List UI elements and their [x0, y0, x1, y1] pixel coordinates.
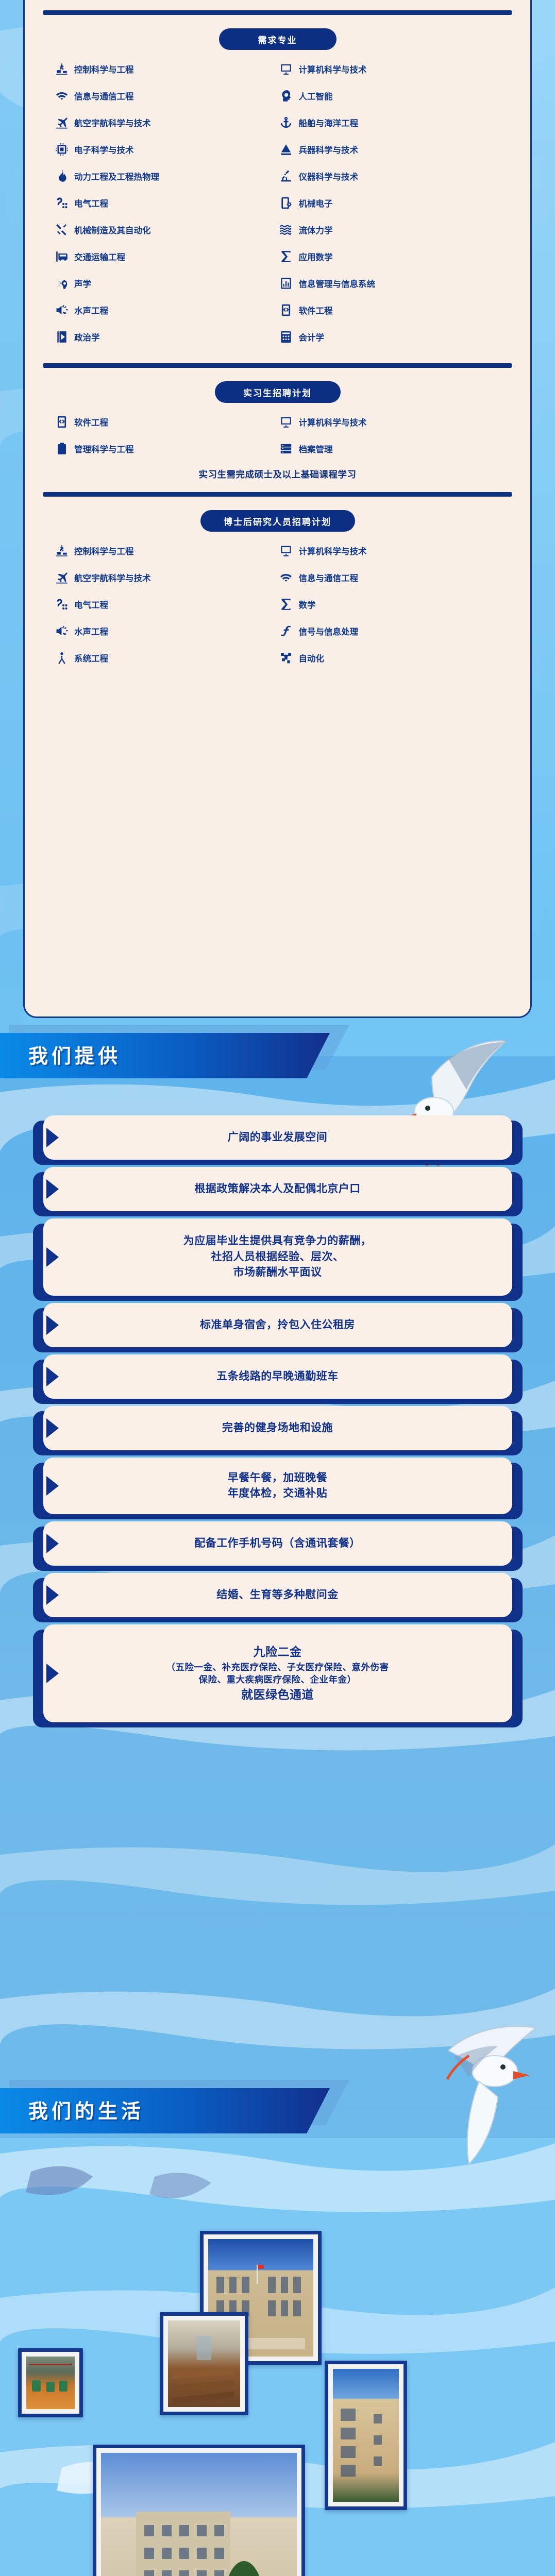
major-label: 流体力学 — [299, 224, 333, 236]
office-building-photo[interactable] — [93, 2445, 305, 2576]
postdoc-item[interactable]: 电气工程 — [55, 592, 279, 616]
chip-icon — [55, 143, 69, 157]
sigma-icon — [279, 598, 293, 612]
major-item[interactable]: 信息管理与信息系统 — [279, 272, 504, 295]
internship-label: 计算机科学与技术 — [299, 416, 367, 428]
photo-image — [333, 2369, 399, 2502]
photo-collage — [0, 2231, 555, 2576]
benefit-item[interactable]: 早餐午餐，加班晚餐 年度体检，交通补贴 — [24, 1458, 532, 1514]
chevron-right-icon — [46, 1418, 59, 1438]
postdoc-item[interactable]: 自动化 — [279, 646, 504, 670]
canteen-photo[interactable] — [160, 2312, 248, 2415]
postdoc-item[interactable]: 航空宇航科学与技术 — [55, 566, 279, 589]
control-system-icon — [55, 62, 69, 76]
major-item[interactable]: 交通运输工程 — [55, 245, 279, 268]
benefit-panel: 九险二金 （五险一金、补充医疗保险、子女医疗保险、意外伤害 保险、重大疾病医疗保… — [43, 1624, 512, 1722]
sigma-icon — [279, 250, 293, 264]
we-offer-banner: 我们提供 — [0, 1033, 555, 1078]
benefit-item[interactable]: 完善的健身场地和设施 — [24, 1406, 532, 1450]
benefit-title: 九险二金 — [254, 1643, 302, 1660]
major-item[interactable]: 软件工程 — [279, 298, 504, 322]
internship-item[interactable]: 软件工程 — [55, 410, 279, 434]
benefit-item[interactable]: 配备工作手机号码（含通讯套餐） — [24, 1521, 532, 1566]
major-label: 电子科学与技术 — [74, 143, 134, 156]
major-item[interactable]: 动力工程及工程热物理 — [55, 164, 279, 188]
cafe-lounge-photo[interactable] — [18, 2348, 83, 2417]
majors-title-pill: 需求专业 — [219, 28, 337, 50]
major-item[interactable]: 信息与通信工程 — [55, 84, 279, 108]
benefit-label: 早餐午餐，加班晚餐 年度体检，交通补贴 — [228, 1470, 328, 1502]
major-label: 仪器科学与技术 — [299, 170, 359, 182]
internship-label: 档案管理 — [299, 443, 333, 455]
majors-grid: 控制科学与工程 计算机科学与技术 信息与通信工程 人工智能 — [25, 50, 530, 349]
recruitment-card: 需求专业 控制科学与工程 计算机科学与技术 信息与通信工程 — [23, 0, 532, 1018]
postdoc-label: 自动化 — [299, 652, 325, 664]
internship-note: 实习生需完成硕士及以上基础课程学习 — [25, 461, 530, 481]
major-label: 动力工程及工程热物理 — [74, 170, 159, 182]
major-item[interactable]: 机械制造及其自动化 — [55, 218, 279, 242]
postdoc-label: 信息与通信工程 — [299, 571, 359, 584]
benefit-label: 完善的健身场地和设施 — [222, 1420, 333, 1436]
benefit-label: 标准单身宿舍，拎包入住公租房 — [200, 1317, 355, 1333]
postdoc-label: 数学 — [299, 598, 316, 611]
postdoc-grid: 控制科学与工程 计算机科学与技术 航空宇航科学与技术 信息与通信工程 电气工程 — [25, 532, 530, 670]
chevron-right-icon — [46, 1664, 59, 1683]
calculator-icon — [279, 330, 293, 344]
major-label: 会计学 — [299, 331, 325, 343]
benefit-item[interactable]: 五条线路的早晚通勤班车 — [24, 1354, 532, 1399]
postdoc-item[interactable]: 系统工程 — [55, 646, 279, 670]
photo-mat — [96, 2448, 301, 2576]
internship-item[interactable]: 档案管理 — [279, 437, 504, 461]
speaker-icon — [55, 303, 69, 317]
chevron-right-icon — [46, 1367, 59, 1386]
major-item[interactable]: 政治学 — [55, 325, 279, 349]
ai-brain-icon — [279, 89, 293, 103]
benefit-label: 结婚、生育等多种慰问金 — [216, 1587, 339, 1603]
airplane-icon — [55, 571, 69, 585]
postdoc-item[interactable]: 数学 — [279, 592, 504, 616]
missile-icon — [279, 143, 293, 157]
chevron-right-icon — [46, 1315, 59, 1335]
benefit-detail: （五险一金、补充医疗保险、子女医疗保险、意外伤害 保险、重大疾病医疗保险、企业年… — [166, 1661, 389, 1686]
monitor-icon — [279, 62, 293, 76]
benefit-label: 广阔的事业发展空间 — [228, 1130, 328, 1145]
chevron-right-icon — [46, 1179, 59, 1199]
benefit-label: 配备工作手机号码（含通讯套餐） — [194, 1536, 361, 1551]
tools-icon — [55, 223, 69, 237]
major-label: 信息管理与信息系统 — [299, 277, 376, 290]
major-label: 机械电子 — [299, 197, 333, 209]
code-icon — [55, 415, 69, 429]
postdoc-label: 航空宇航科学与技术 — [74, 571, 151, 584]
benefit-panel: 结婚、生育等多种慰问金 — [43, 1573, 512, 1617]
benefit-item[interactable]: 根据政策解决本人及配偶北京户口 — [24, 1167, 532, 1211]
postdoc-label: 信号与信息处理 — [299, 625, 359, 637]
major-item[interactable]: 电气工程 — [55, 191, 279, 215]
chevron-right-icon — [46, 1247, 59, 1267]
major-item[interactable]: 会计学 — [279, 325, 504, 349]
benefit-panel: 五条线路的早晚通勤班车 — [43, 1354, 512, 1399]
benefit-panel: 根据政策解决本人及配偶北京户口 — [43, 1167, 512, 1211]
benefit-footer: 就医绿色通道 — [241, 1686, 314, 1703]
major-label: 信息与通信工程 — [74, 90, 134, 102]
photo-mat — [163, 2316, 245, 2412]
divider-internship — [43, 363, 512, 368]
internship-title-pill: 实习生招聘计划 — [215, 381, 341, 403]
bus-icon — [55, 250, 69, 264]
code-icon — [279, 303, 293, 317]
speaker-icon — [55, 624, 69, 638]
benefit-item[interactable]: 为应届毕业生提供具有竞争力的薪酬， 社招人员根据经验、层次、 市场薪酬水平面议 — [24, 1218, 532, 1296]
internship-grid: 软件工程 计算机科学与技术 管理科学与工程 档案管理 — [25, 403, 530, 461]
monitor-icon — [279, 544, 293, 558]
benefit-panel: 早餐午餐，加班晚餐 年度体检，交通补贴 — [43, 1458, 512, 1514]
benefit-item[interactable]: 九险二金 （五险一金、补充医疗保险、子女医疗保险、意外伤害 保险、重大疾病医疗保… — [24, 1624, 532, 1722]
benefit-item[interactable]: 结婚、生育等多种慰问金 — [24, 1573, 532, 1617]
major-label: 软件工程 — [299, 304, 333, 316]
major-label: 船舶与海洋工程 — [299, 116, 359, 129]
postdoc-label: 控制科学与工程 — [74, 545, 134, 557]
major-item[interactable]: 应用数学 — [279, 245, 504, 268]
control-system-icon — [55, 544, 69, 558]
major-label: 电气工程 — [74, 197, 108, 209]
major-item[interactable]: 仪器科学与技术 — [279, 164, 504, 188]
major-item[interactable]: 机械电子 — [279, 191, 504, 215]
major-label: 兵器科学与技术 — [299, 143, 359, 156]
server-icon — [279, 442, 293, 456]
major-item[interactable]: 流体力学 — [279, 218, 504, 242]
our-life-banner-title: 我们的生活 — [28, 2095, 144, 2124]
chevron-right-icon — [46, 1585, 59, 1605]
major-item[interactable]: 航空宇航科学与技术 — [55, 111, 279, 134]
benefit-label: 五条线路的早晚通勤班车 — [216, 1369, 339, 1384]
postdoc-label: 系统工程 — [74, 652, 108, 664]
wifi-icon — [55, 89, 69, 103]
flame-icon — [55, 170, 69, 183]
anchor-icon — [279, 116, 293, 130]
signal-f-icon — [279, 624, 293, 638]
plug-icon — [55, 196, 69, 210]
waves-icon — [279, 223, 293, 237]
benefit-item[interactable]: 标准单身宿舍，拎包入住公租房 — [24, 1303, 532, 1347]
benefit-item[interactable]: 广阔的事业发展空间 — [24, 1115, 532, 1160]
major-item[interactable]: 控制科学与工程 — [55, 57, 279, 81]
photo-image — [26, 2357, 75, 2409]
major-label: 应用数学 — [299, 250, 333, 263]
major-item[interactable]: 声学 — [55, 272, 279, 295]
photo-image — [101, 2453, 297, 2576]
internship-item[interactable]: 管理科学与工程 — [55, 437, 279, 461]
we-offer-banner-title: 我们提供 — [28, 1040, 121, 1069]
photo-image — [168, 2320, 240, 2407]
photo-mat — [328, 2364, 403, 2506]
major-label: 人工智能 — [299, 90, 333, 102]
airplane-icon — [55, 116, 69, 130]
chevron-right-icon — [46, 1128, 59, 1147]
postdoc-item[interactable]: 水声工程 — [55, 619, 279, 643]
major-label: 交通运输工程 — [74, 250, 125, 263]
postdoc-label: 水声工程 — [74, 625, 108, 637]
benefits-list: 广阔的事业发展空间 根据政策解决本人及配偶北京户口 为应届毕业生提供具有竞争力的… — [0, 1115, 555, 1730]
postdoc-label: 电气工程 — [74, 598, 108, 611]
postdoc-item[interactable]: 信息与通信工程 — [279, 566, 504, 589]
dormitory-photo[interactable] — [325, 2361, 407, 2510]
photo-mat — [22, 2352, 79, 2414]
plug-icon — [55, 598, 69, 612]
microscope-icon — [279, 170, 293, 183]
benefit-panel: 为应届毕业生提供具有竞争力的薪酬， 社招人员根据经验、层次、 市场薪酬水平面议 — [43, 1218, 512, 1296]
postdoc-item[interactable]: 计算机科学与技术 — [279, 539, 504, 563]
internship-label: 管理科学与工程 — [74, 443, 134, 455]
major-label: 控制科学与工程 — [74, 63, 134, 75]
postdoc-item[interactable]: 控制科学与工程 — [55, 539, 279, 563]
benefit-panel: 广阔的事业发展空间 — [43, 1115, 512, 1160]
clipboard-icon — [55, 442, 69, 456]
major-label: 航空宇航科学与技术 — [74, 116, 151, 129]
benefit-label: 为应届毕业生提供具有竞争力的薪酬， 社招人员根据经验、层次、 市场薪酬水平面议 — [183, 1233, 372, 1280]
our-life-banner: 我们的生活 — [0, 2088, 555, 2133]
benefit-panel: 标准单身宿舍，拎包入住公租房 — [43, 1303, 512, 1347]
major-item[interactable]: 船舶与海洋工程 — [279, 111, 504, 134]
divider-top — [43, 10, 512, 15]
wifi-icon — [279, 571, 293, 585]
major-item[interactable]: 人工智能 — [279, 84, 504, 108]
postdoc-title-pill: 博士后研究人员招聘计划 — [200, 510, 355, 532]
person-system-icon — [55, 651, 69, 665]
ear-icon — [55, 277, 69, 291]
chevron-right-icon — [46, 1476, 59, 1496]
major-label: 声学 — [74, 277, 91, 290]
benefit-panel: 配备工作手机号码（含通讯套餐） — [43, 1521, 512, 1566]
postdoc-label: 计算机科学与技术 — [299, 545, 367, 557]
device-gear-icon — [279, 196, 293, 210]
major-item[interactable]: 电子科学与技术 — [55, 138, 279, 161]
major-label: 机械制造及其自动化 — [74, 224, 151, 236]
major-label: 计算机科学与技术 — [299, 63, 367, 75]
internship-item[interactable]: 计算机科学与技术 — [279, 410, 504, 434]
benefit-label: 根据政策解决本人及配偶北京户口 — [194, 1181, 361, 1197]
major-label: 水声工程 — [74, 304, 108, 316]
automation-icon — [279, 651, 293, 665]
major-item[interactable]: 计算机科学与技术 — [279, 57, 504, 81]
internship-label: 软件工程 — [74, 416, 108, 428]
postdoc-item[interactable]: 信号与信息处理 — [279, 619, 504, 643]
monitor-icon — [279, 415, 293, 429]
major-item[interactable]: 兵器科学与技术 — [279, 138, 504, 161]
book-play-icon — [55, 330, 69, 344]
divider-postdoc — [43, 492, 512, 497]
major-label: 政治学 — [74, 331, 100, 343]
bar-chart-icon — [279, 277, 293, 291]
chevron-right-icon — [46, 1534, 59, 1553]
major-item[interactable]: 水声工程 — [55, 298, 279, 322]
benefit-panel: 完善的健身场地和设施 — [43, 1406, 512, 1450]
